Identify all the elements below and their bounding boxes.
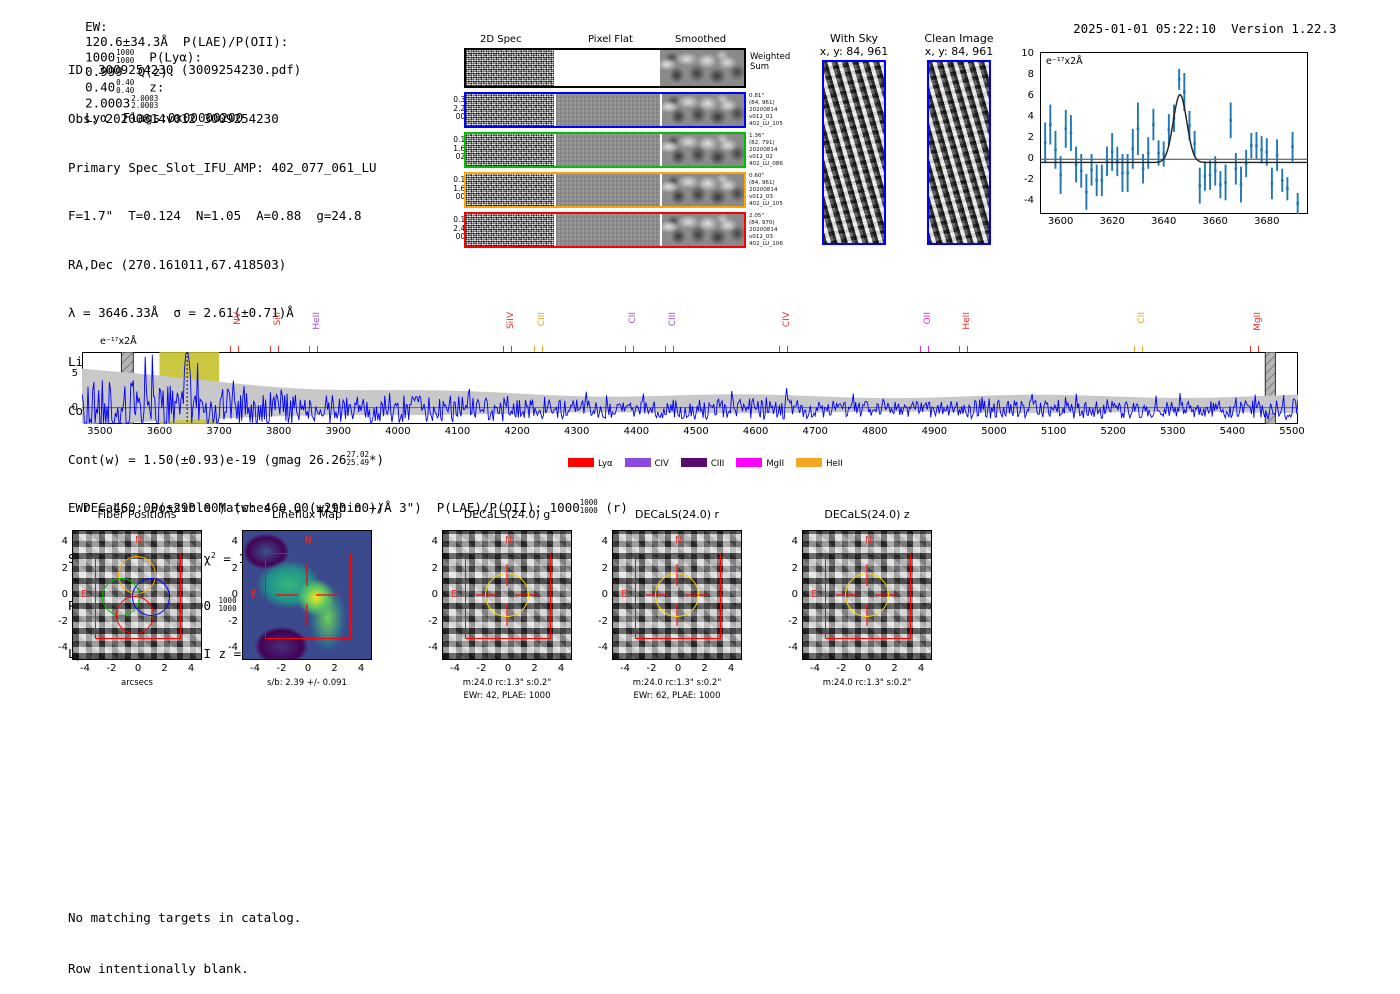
legend-label: Lyα [598, 459, 613, 469]
spectrum-x-tick: 3700 [199, 426, 239, 437]
spec2d-row-meta: 0.60"(84, 961)20200814v012_03402_LU_105 [749, 173, 809, 208]
spectrum-x-tick: 4500 [676, 426, 716, 437]
footer-note: No matching targets in catalog. Row inte… [68, 875, 301, 994]
spec2d-weighted-pixelflat [554, 50, 660, 86]
emission-line-label: NV [233, 312, 243, 325]
cutout-x-tick: -4 [441, 663, 469, 674]
photometry-aperture-circle [485, 573, 529, 617]
spectrum-flux-annotation: e⁻¹⁷x2Å [100, 336, 137, 347]
cutout-y-tick: -4 [590, 642, 608, 653]
cutout-x-tick: 4 [547, 663, 575, 674]
cutout-y-tick: -2 [780, 616, 798, 627]
cutout-x-tick: -4 [71, 663, 99, 674]
cutout-x-tick: -2 [638, 663, 666, 674]
cutout-y-tick: 0 [220, 589, 238, 600]
zoom-plot-x-tick: 3600 [1045, 216, 1077, 227]
cutout-x-tick: 2 [521, 663, 549, 674]
cutout-image[interactable]: NE [442, 530, 572, 660]
spec2d-row-meta: 1.36"(82, 791)20200814v012_02402_LU_086 [749, 133, 809, 168]
photometry-aperture-circle [845, 573, 889, 617]
spectrum-x-tick: 4900 [914, 426, 954, 437]
line-zoom-plot: e⁻¹⁷x2Å [1040, 52, 1308, 214]
cutout-x-tick: 4 [347, 663, 375, 674]
legend-swatch [736, 458, 762, 467]
zoom-plot-x-tick: 3660 [1199, 216, 1231, 227]
emission-line-marker: CII [1137, 312, 1147, 354]
zoom-plot-y-tick: -2 [1012, 174, 1034, 185]
spectrum-x-tick: 3600 [140, 426, 180, 437]
cutout-y-tick: 4 [780, 536, 798, 547]
cutout-y-tick: 2 [420, 563, 438, 574]
spec2d-row-pixelflat [556, 94, 660, 126]
zoom-plot-x-axis: 36003620364036603680 [1030, 216, 1330, 232]
zoom-plot-y-tick: 6 [1012, 90, 1034, 101]
fiber-aperture-circle [116, 596, 154, 634]
emission-line-marker: CIII [537, 312, 547, 354]
zoom-plot-y-tick: 8 [1012, 69, 1034, 80]
cutout-x-tick: -2 [268, 663, 296, 674]
cutout-x-tick: 2 [151, 663, 179, 674]
cutout-caption-primary: m:24.0 rc:1.3" s:0.2" [408, 678, 606, 689]
info-obs: Obs: 20200814v012_3009254230 [68, 111, 392, 127]
cutout-y-tick: 2 [50, 563, 68, 574]
cutout-x-tick: 2 [321, 663, 349, 674]
emission-line-marker: NV [233, 312, 243, 354]
emission-line-marker: CII [628, 312, 638, 354]
spec2d-row-smoothed [662, 134, 744, 166]
spec2d-row-pixelflat [556, 174, 660, 206]
photometry-aperture-circle [655, 573, 699, 617]
spec2d-weighted-sum-row [464, 48, 746, 88]
spec2d-row-strip [464, 172, 746, 208]
spec2d-row-2dspec [466, 214, 554, 246]
postage-image [822, 60, 886, 245]
cutout-x-tick: 0 [124, 663, 152, 674]
cutout-y-tick: 4 [50, 536, 68, 547]
emission-line-marker: MgII [1253, 312, 1263, 354]
cutout-y-tick: 2 [780, 563, 798, 574]
spec2d-row-2dspec [466, 94, 554, 126]
spectrum-x-tick: 3500 [80, 426, 120, 437]
emission-line-label: CIII [668, 312, 678, 326]
spec2d-row-strip [464, 132, 746, 168]
zoom-plot-x-tick: 3680 [1251, 216, 1283, 227]
postage-image [927, 60, 991, 245]
info-seeing: F=1.7" T=0.124 N=1.05 A=0.88 g=24.8 [68, 208, 392, 224]
cutout-crosshair [243, 531, 371, 659]
zoom-plot-y-axis: -4-20246810 [1012, 46, 1038, 221]
cutout-y-tick: -4 [780, 642, 798, 653]
postage-stamp-panels: With Skyx, y: 84, 961Clean Imagex, y: 84… [808, 32, 1018, 252]
emission-line-marker: CIII [668, 312, 678, 354]
spec2d-row-pixelflat [556, 134, 660, 166]
cutout-y-tick: 0 [50, 589, 68, 600]
emission-line-label: SiII [273, 312, 283, 326]
legend-label: CIII [711, 459, 724, 469]
spectrum-x-tick: 4800 [855, 426, 895, 437]
emission-line-label: OII [923, 312, 933, 324]
postage-subtitle: x, y: 84, 961 [808, 45, 900, 58]
cutout-caption-primary: arcsecs [38, 678, 236, 689]
cutout-image[interactable]: NE [72, 530, 202, 660]
spec2d-weighted-sum-label: Weighted Sum [750, 52, 790, 72]
spectrum-x-tick: 3800 [259, 426, 299, 437]
cutout-y-tick: 0 [780, 589, 798, 600]
emission-line-label: HeII [962, 312, 972, 330]
legend-label: MgII [766, 459, 784, 469]
spec2d-row-strip [464, 92, 746, 128]
spec2d-row-pixelflat [556, 214, 660, 246]
cutout-x-tick: -2 [468, 663, 496, 674]
cutout-x-tick: 4 [907, 663, 935, 674]
spectrum-emission-line-labels: NVSiIIHeIISiIVCIIICIICIIICIVOIIHeIICIIMg… [80, 312, 1300, 354]
spectrum-legend: LyαCIVCIIIMgIIHeII [568, 451, 855, 465]
cutout-y-tick: -2 [420, 616, 438, 627]
spectrum-x-tick: 4600 [736, 426, 776, 437]
cutout-x-tick: 0 [294, 663, 322, 674]
spec2d-row-smoothed [662, 174, 744, 206]
legend-label: HeII [826, 459, 843, 469]
spectrum-x-tick: 4700 [795, 426, 835, 437]
cutout-y-tick: 0 [590, 589, 608, 600]
cutout-caption-secondary: EWr: 62, PLAE: 1000 [578, 691, 776, 702]
emission-line-label: CIII [537, 312, 547, 326]
full-spectrum-plot [82, 352, 1298, 424]
zoom-plot-y-tick: 2 [1012, 132, 1034, 143]
cutout-x-tick: 0 [664, 663, 692, 674]
spec2d-weighted-smoothed [660, 50, 744, 86]
legend-swatch [681, 458, 707, 467]
cutout-panel-row: Fiber PositionsNE420-2-4-4-2024arcsecsLi… [60, 508, 1000, 738]
zoom-plot-x-tick: 3640 [1148, 216, 1180, 227]
cutout-title: DECaLS(24.0) g [418, 508, 596, 521]
cutout-caption-primary: m:24.0 rc:1.3" s:0.2" [768, 678, 966, 689]
cutout-title: DECaLS(24.0) r [588, 508, 766, 521]
cutout-caption-primary: m:24.0 rc:1.3" s:0.2" [578, 678, 776, 689]
cutout-y-tick: -2 [50, 616, 68, 627]
spec2d-title-0: 2D Spec [480, 34, 522, 45]
footer-line-1: No matching targets in catalog. [68, 909, 301, 926]
cutout-x-tick: -4 [611, 663, 639, 674]
cutout-title: Fiber Positions [48, 508, 226, 521]
spec2d-row-smoothed [662, 214, 744, 246]
spec2d-weighted-2dspec [466, 50, 554, 86]
cutout-x-tick: -4 [241, 663, 269, 674]
zoom-plot-y-tick: 4 [1012, 111, 1034, 122]
info-cont-w: Cont(w) = 1.50(±0.93)e-19 (gmag 26.2627.… [68, 451, 392, 467]
spectrum-x-tick: 5100 [1034, 426, 1074, 437]
spec2d-fiber-rows: 0.342.220080.81"(84, 961)20200814v012_01… [440, 92, 800, 252]
cutout-image[interactable]: NE [242, 530, 372, 660]
cutout-title: Lineflux Map [218, 508, 396, 521]
zoom-plot-flux-annotation: e⁻¹⁷x2Å [1046, 56, 1083, 67]
spec2d-column-titles: 2D Spec Pixel Flat Smoothed [460, 34, 760, 48]
legend-label: CIV [655, 459, 669, 469]
header-datetime: 2025-01-01 05:22:10 [1073, 21, 1216, 36]
compass-east-label: E [81, 589, 87, 600]
info-radec: RA,Dec (270.161011,67.418503) [68, 257, 392, 273]
spectrum-x-tick: 4400 [616, 426, 656, 437]
cutout-y-tick: 4 [420, 536, 438, 547]
emission-line-label: CII [628, 312, 638, 324]
cutout-y-tick: 2 [220, 563, 238, 574]
spectrum-x-axis: 3500360037003800390040004100420043004400… [60, 426, 1340, 442]
cutout-x-tick: 2 [691, 663, 719, 674]
spec2d-row-strip [464, 212, 746, 248]
compass-north-label: N [135, 535, 142, 546]
cutout-x-tick: 0 [494, 663, 522, 674]
emission-line-marker: SiIV [506, 312, 516, 354]
emission-line-marker: HeII [312, 312, 322, 354]
cutout-x-tick: -4 [801, 663, 829, 674]
spectrum-x-tick: 4300 [557, 426, 597, 437]
cutout-y-tick: 4 [220, 536, 238, 547]
emission-line-marker: SiII [273, 312, 283, 354]
cutout-y-tick: -2 [590, 616, 608, 627]
info-gmag-range: 27.0225.49 [346, 451, 369, 466]
zoom-plot-x-tick: 3620 [1096, 216, 1128, 227]
spec2d-row-meta: 0.81"(84, 961)20200814v012_01402_LU_105 [749, 93, 809, 128]
spectrum-y-axis: 05 [58, 348, 80, 428]
spec2d-row-meta: 2.05"(84, 970)20200814v012_03402_LU_106 [749, 213, 809, 248]
cutout-image[interactable]: NE [802, 530, 932, 660]
spec2d-row-smoothed [662, 94, 744, 126]
spectrum-y-tick: 0 [60, 402, 78, 413]
footer-line-2: Row intentionally blank. [68, 960, 301, 977]
info-id: ID: 3009254230 (3009254230.pdf) [68, 62, 392, 78]
cutout-x-tick: -2 [98, 663, 126, 674]
cutout-x-tick: -2 [828, 663, 856, 674]
spectrum-x-tick: 5300 [1153, 426, 1193, 437]
postage-title: Clean Image [913, 32, 1005, 45]
spec2d-title-2: Smoothed [675, 34, 726, 45]
postage-title: With Sky [808, 32, 900, 45]
emission-line-marker: CIV [782, 312, 792, 354]
legend-swatch [568, 458, 594, 467]
cutout-y-tick: 4 [590, 536, 608, 547]
spectrum-x-tick: 5500 [1272, 426, 1312, 437]
cutout-caption-secondary: EWr: 42, PLAE: 1000 [408, 691, 606, 702]
info-slot: Primary Spec_Slot_IFU_AMP: 402_077_061_L… [68, 160, 392, 176]
cutout-y-tick: 2 [590, 563, 608, 574]
cutout-title: DECaLS(24.0) z [778, 508, 956, 521]
cutout-x-tick: 4 [717, 663, 745, 674]
spectrum-x-tick: 4000 [378, 426, 418, 437]
spectrum-x-tick: 5200 [1093, 426, 1133, 437]
legend-swatch [625, 458, 651, 467]
cutout-y-tick: -2 [220, 616, 238, 627]
zoom-plot-y-tick: 0 [1012, 153, 1034, 164]
header-version: Version 1.22.3 [1231, 21, 1336, 36]
spectrum-x-tick: 4200 [497, 426, 537, 437]
postage-subtitle: x, y: 84, 961 [913, 45, 1005, 58]
cutout-x-tick: 2 [881, 663, 909, 674]
spectrum-y-tick: 5 [60, 368, 78, 379]
cutout-x-tick: 0 [854, 663, 882, 674]
spec2d-row-2dspec [466, 134, 554, 166]
emission-line-label: SiIV [506, 312, 516, 329]
emission-line-label: CIV [782, 312, 792, 327]
cutout-y-tick: -4 [220, 642, 238, 653]
spectrum-x-tick: 5000 [974, 426, 1014, 437]
cutout-image[interactable]: NE [612, 530, 742, 660]
legend-swatch [796, 458, 822, 467]
emission-line-label: MgII [1253, 312, 1263, 331]
header-timestamp-block: 2025-01-01 05:22:10 Version 1.22.3 [1058, 6, 1336, 36]
spec2d-title-1: Pixel Flat [588, 34, 633, 45]
cutout-x-tick: 4 [177, 663, 205, 674]
emission-line-marker: OII [923, 312, 933, 354]
cutout-y-tick: 0 [420, 589, 438, 600]
spectrum-x-tick: 4100 [438, 426, 478, 437]
emission-line-marker: HeII [962, 312, 972, 354]
cutout-y-tick: -4 [50, 642, 68, 653]
spectrum-x-tick: 3900 [318, 426, 358, 437]
cutout-y-tick: -4 [420, 642, 438, 653]
spectrum-x-tick: 5400 [1212, 426, 1252, 437]
zoom-plot-y-tick: -4 [1012, 195, 1034, 206]
emission-line-label: HeII [312, 312, 322, 330]
zoom-plot-y-tick: 10 [1012, 48, 1034, 59]
cutout-caption-primary: s/b: 2.39 +/- 0.091 [208, 678, 406, 689]
spec2d-row-2dspec [466, 174, 554, 206]
emission-line-label: CII [1137, 312, 1147, 324]
